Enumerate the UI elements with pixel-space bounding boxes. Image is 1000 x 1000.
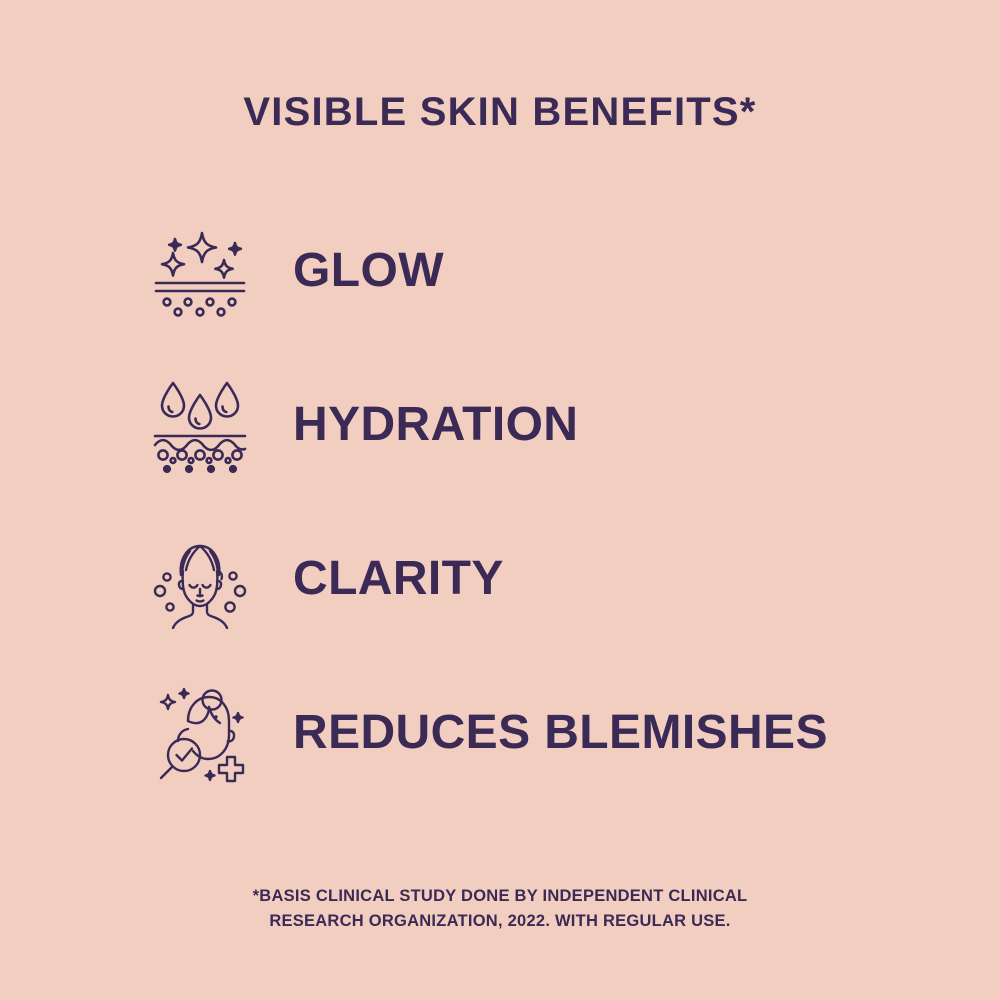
reduces-blemishes-magnifier-face-icon	[145, 678, 255, 788]
benefit-row-hydration: HYDRATION	[120, 348, 880, 502]
benefit-row-glow: GLOW	[120, 194, 880, 348]
glow-sparkle-skin-icon	[145, 216, 255, 326]
benefit-label-glow: GLOW	[293, 247, 444, 295]
benefit-list: GLOW	[120, 194, 880, 810]
hydration-droplets-skin-icon	[145, 370, 255, 480]
benefit-row-reduces-blemishes: REDUCES BLEMISHES	[120, 656, 880, 810]
clarity-face-towel-icon	[145, 524, 255, 634]
benefit-label-reduces-blemishes: REDUCES BLEMISHES	[293, 709, 828, 757]
visible-skin-benefits-poster: VISIBLE SKIN BENEFITS*	[0, 0, 1000, 1000]
benefit-row-clarity: CLARITY	[120, 502, 880, 656]
page-title: VISIBLE SKIN BENEFITS*	[243, 92, 756, 132]
footnote-line-2: RESEARCH ORGANIZATION, 2022. WITH REGULA…	[0, 909, 1000, 934]
footnote: *BASIS CLINICAL STUDY DONE BY INDEPENDEN…	[0, 884, 1000, 934]
benefit-label-hydration: HYDRATION	[293, 401, 578, 449]
footnote-line-1: *BASIS CLINICAL STUDY DONE BY INDEPENDEN…	[0, 884, 1000, 909]
benefit-label-clarity: CLARITY	[293, 555, 504, 603]
